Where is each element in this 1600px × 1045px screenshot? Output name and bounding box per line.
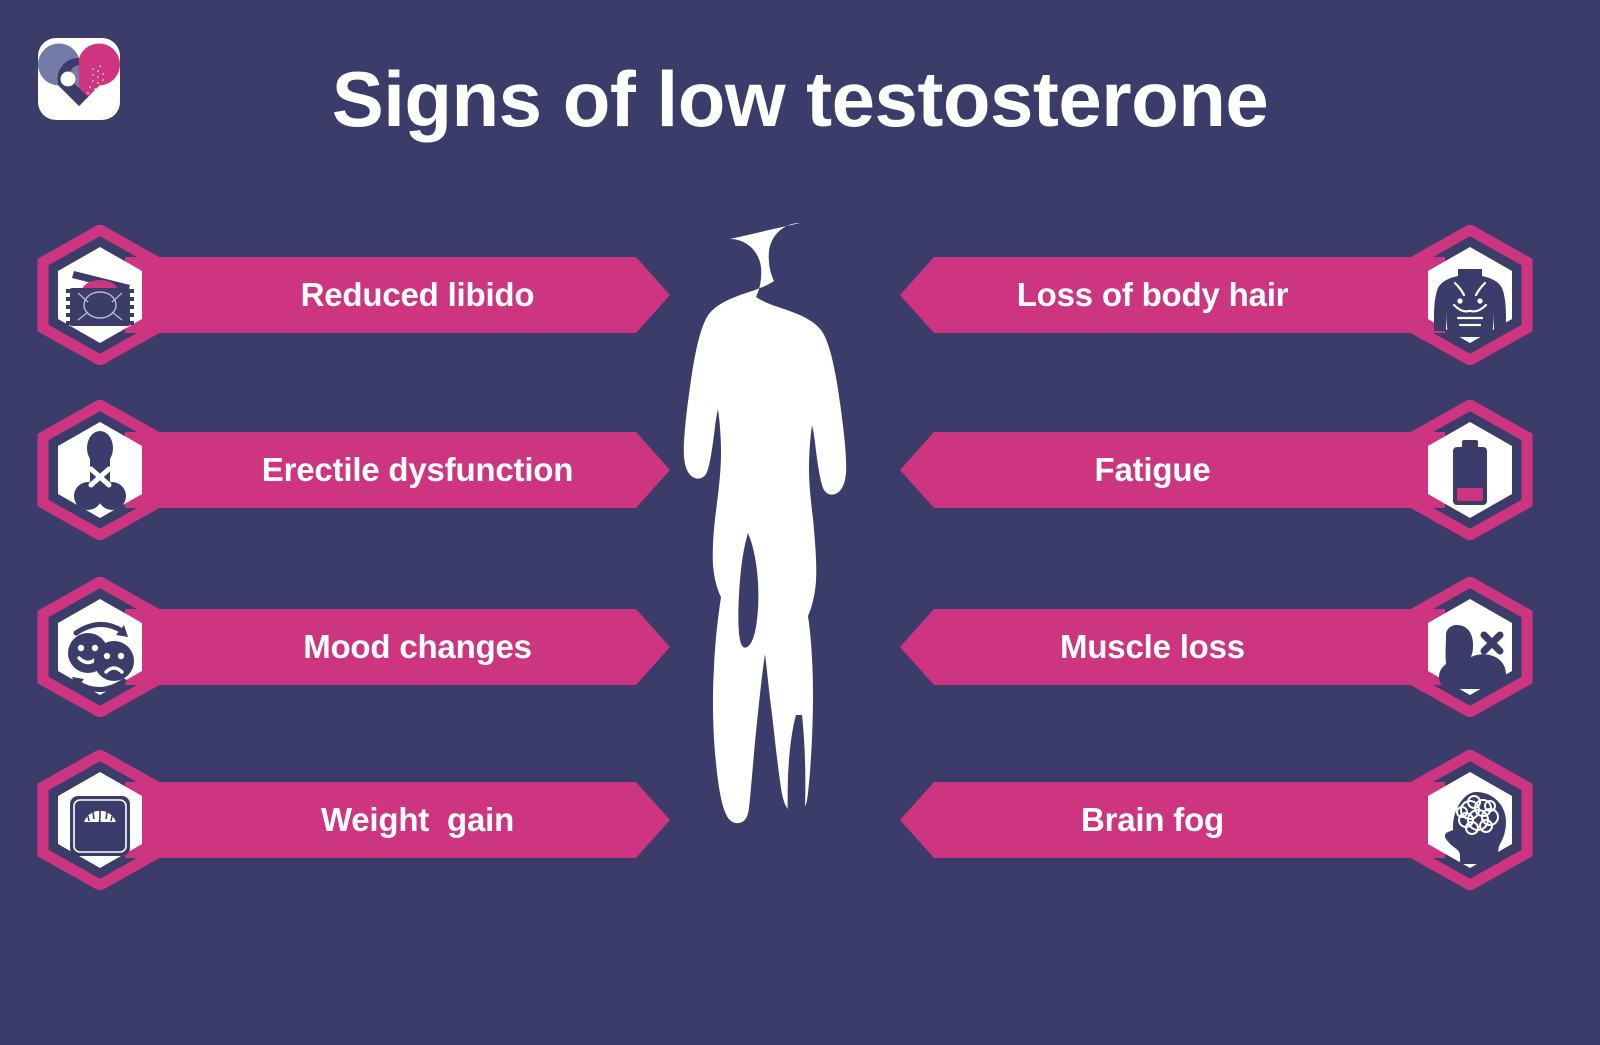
sign-row-fatigue: Fatigue: [900, 400, 1540, 540]
sign-row-weight-gain: Weight gain: [30, 750, 670, 890]
sign-label: Mood changes: [263, 628, 532, 666]
sign-label: Reduced libido: [261, 276, 535, 314]
happy-sad-faces-swap-icon: [30, 577, 170, 717]
sign-label: Brain fog: [1081, 801, 1264, 839]
sign-banner[interactable]: Reduced libido: [125, 257, 670, 333]
sign-banner[interactable]: Mood changes: [125, 609, 670, 685]
sign-banner[interactable]: Muscle loss: [900, 609, 1445, 685]
penis-crossed-out-icon: [30, 400, 170, 540]
bicep-crossed-out-icon: [1400, 577, 1540, 717]
sign-row-reduced-libido: Reduced libido: [30, 225, 670, 365]
sign-row-muscle-loss: Muscle loss: [900, 577, 1540, 717]
sign-label: Loss of body hair: [1017, 276, 1329, 314]
condom-packet-icon: [30, 225, 170, 365]
sign-label: Muscle loss: [1060, 628, 1285, 666]
infographic-canvas: Signs of low testosterone Reduced libido: [0, 0, 1600, 1045]
head-tangled-thoughts-icon: [1400, 750, 1540, 890]
low-battery-icon: [1400, 400, 1540, 540]
sign-row-loss-of-body-hair: Loss of body hair: [900, 225, 1540, 365]
male-torso-icon: [1400, 225, 1540, 365]
sign-row-brain-fog: Brain fog: [900, 750, 1540, 890]
sign-label: Weight gain: [281, 801, 514, 839]
sign-row-mood-changes: Mood changes: [30, 577, 670, 717]
sign-banner[interactable]: Erectile dysfunction: [125, 432, 670, 508]
sign-banner[interactable]: Weight gain: [125, 782, 670, 858]
page-title: Signs of low testosterone: [0, 60, 1600, 138]
sign-row-erectile-dysfunction: Erectile dysfunction: [30, 400, 670, 540]
sign-label: Fatigue: [1095, 451, 1251, 489]
bathroom-scale-icon: [30, 750, 170, 890]
sign-banner[interactable]: Fatigue: [900, 432, 1445, 508]
sign-banner[interactable]: Loss of body hair: [900, 257, 1445, 333]
sign-label: Erectile dysfunction: [222, 451, 573, 489]
sign-banner[interactable]: Brain fog: [900, 782, 1445, 858]
